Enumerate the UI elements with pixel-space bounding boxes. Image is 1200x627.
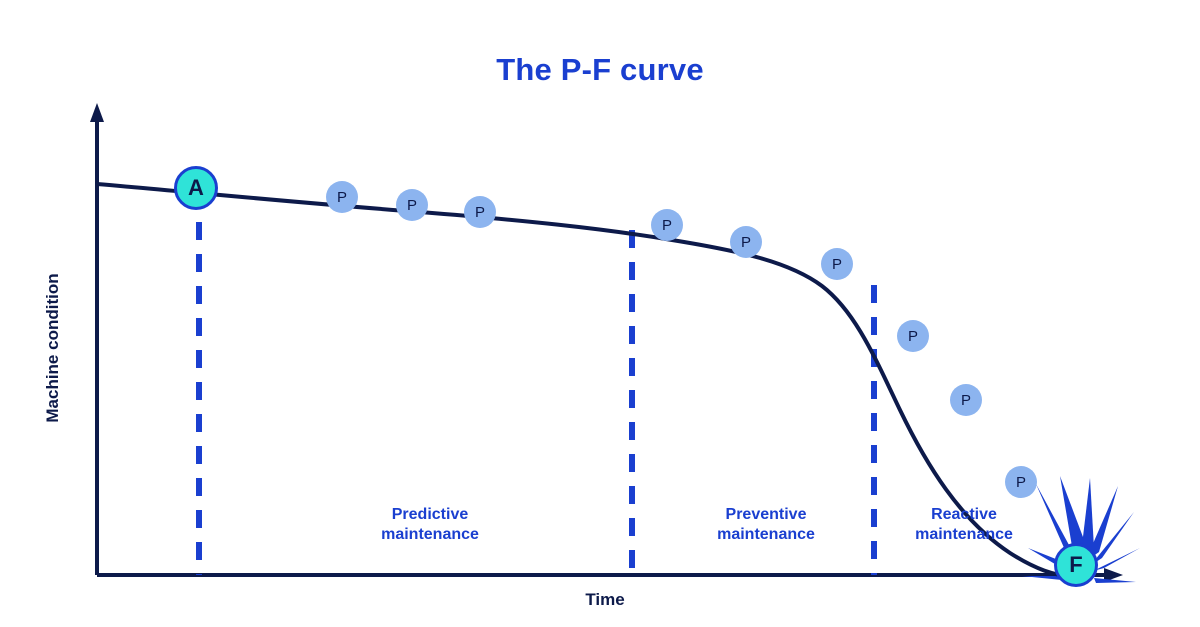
y-axis-label: Machine condition	[43, 248, 63, 448]
marker-p-1: P	[326, 181, 358, 213]
y-axis-arrowhead	[90, 103, 104, 122]
marker-p-5: P	[730, 226, 762, 258]
marker-p-7: P	[897, 320, 929, 352]
marker-p-4: P	[651, 209, 683, 241]
marker-p-8: P	[950, 384, 982, 416]
marker-a: A	[174, 166, 218, 210]
pf-curve-figure: The P-F curve Machine condition Time	[0, 0, 1200, 627]
marker-p-6: P	[821, 248, 853, 280]
marker-f: F	[1054, 543, 1098, 587]
zone-label-line2: maintenance	[314, 525, 546, 545]
zone-label-line1: Predictive	[314, 505, 546, 525]
x-axis-label: Time	[480, 590, 730, 610]
zone-label-line1: Reactive	[848, 505, 1080, 525]
zone-label-reactive: Reactive maintenance	[848, 505, 1080, 545]
zone-label-line2: maintenance	[848, 525, 1080, 545]
zone-label-predictive: Predictive maintenance	[314, 505, 546, 545]
marker-p-9: P	[1005, 466, 1037, 498]
marker-p-3: P	[464, 196, 496, 228]
marker-p-2: P	[396, 189, 428, 221]
